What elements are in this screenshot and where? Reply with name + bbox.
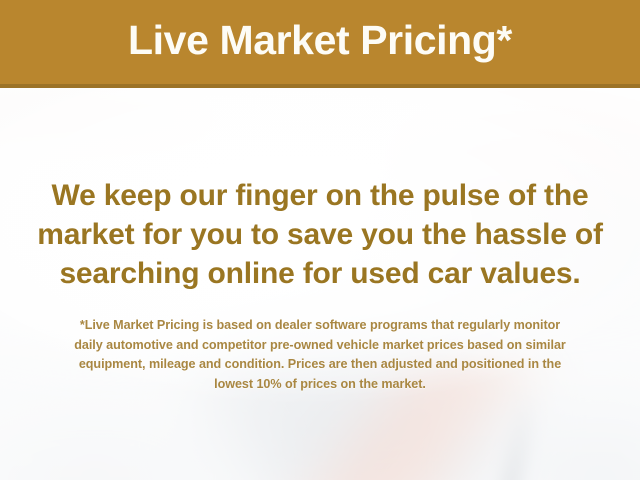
headline-line-1: We keep our finger on the pulse of the xyxy=(0,176,640,215)
live-market-pricing-graphic: Live Market Pricing* We keep our finger … xyxy=(0,0,640,480)
disclaimer-line-3: equipment, mileage and condition. Prices… xyxy=(0,355,640,375)
disclaimer-text: *Live Market Pricing is based on dealer … xyxy=(0,316,640,394)
header-banner: Live Market Pricing* xyxy=(0,0,640,88)
headline-text: We keep our finger on the pulse of the m… xyxy=(0,176,640,293)
page-title: Live Market Pricing* xyxy=(128,20,512,65)
disclaimer-line-4: lowest 10% of prices on the market. xyxy=(0,375,640,395)
headline-line-2: market for you to save you the hassle of xyxy=(0,215,640,254)
disclaimer-line-1: *Live Market Pricing is based on dealer … xyxy=(0,316,640,336)
headline-line-3: searching online for used car values. xyxy=(0,254,640,293)
disclaimer-line-2: daily automotive and competitor pre-owne… xyxy=(0,336,640,356)
